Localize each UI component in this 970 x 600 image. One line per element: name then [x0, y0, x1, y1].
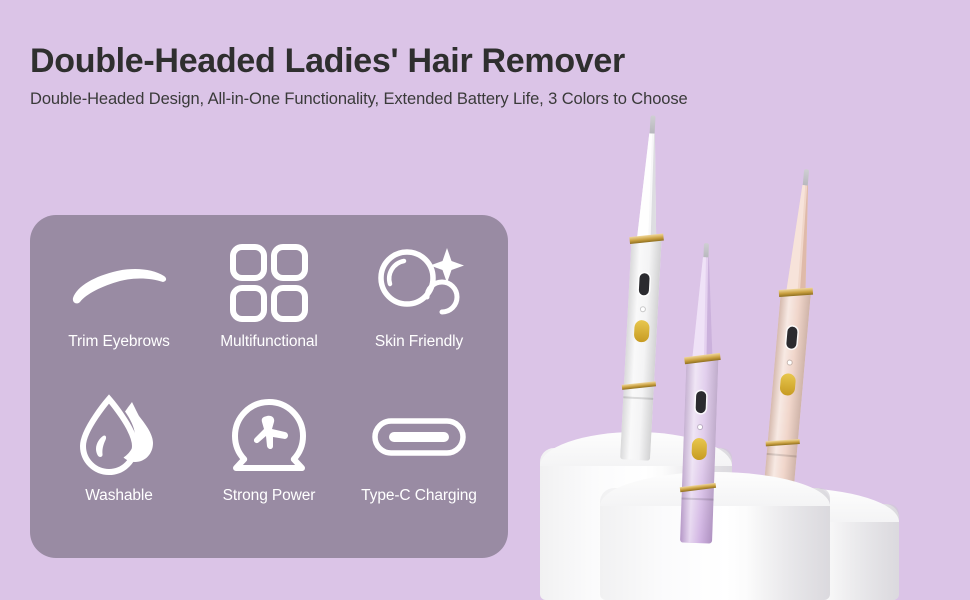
feature-grid: Trim Eyebrows Multifunctional: [30, 215, 508, 558]
pedestal-front: [600, 472, 830, 600]
eyebrow-icon: [44, 237, 194, 329]
feature-panel: Trim Eyebrows Multifunctional: [30, 215, 508, 558]
feature-item-trim-eyebrows: Trim Eyebrows: [44, 237, 194, 391]
pink-hair-remover: [762, 168, 822, 509]
feature-item-strong-power: Strong Power: [194, 391, 344, 545]
feature-label: Trim Eyebrows: [68, 333, 169, 351]
feature-item-type-c-charging: Type-C Charging: [344, 391, 494, 545]
feature-item-multifunctional: Multifunctional: [194, 237, 344, 391]
feature-label: Multifunctional: [220, 333, 318, 351]
feature-item-washable: Washable: [44, 391, 194, 545]
grid-squares-icon: [194, 237, 344, 329]
feature-label: Washable: [85, 487, 153, 505]
power-dome-icon: [194, 391, 344, 483]
usb-type-c-icon: [344, 391, 494, 483]
product-scene: [540, 0, 970, 600]
product-banner: Double-Headed Ladies' Hair Remover Doubl…: [0, 0, 970, 600]
white-hair-remover: [620, 115, 668, 461]
feature-label: Type-C Charging: [361, 487, 477, 505]
bubbles-sparkle-icon: [344, 237, 494, 329]
feature-item-skin-friendly: Skin Friendly: [344, 237, 494, 391]
water-drop-icon: [44, 391, 194, 483]
feature-label: Skin Friendly: [375, 333, 463, 351]
feature-label: Strong Power: [223, 487, 316, 505]
